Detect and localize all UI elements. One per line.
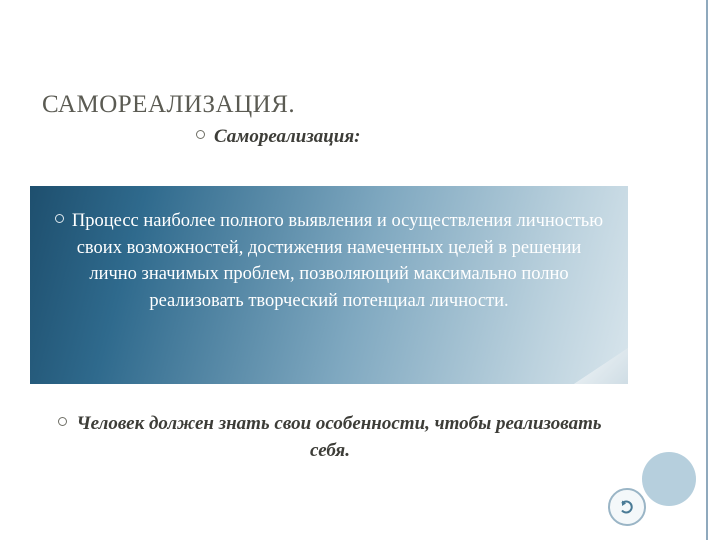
decorative-circle	[642, 452, 696, 506]
page-title: САМОРЕАЛИЗАЦИЯ.	[42, 91, 295, 119]
return-loop-icon[interactable]	[608, 488, 646, 526]
hollow-circle-bullet-icon	[55, 214, 64, 223]
hollow-circle-bullet-icon	[58, 417, 67, 426]
bullet-text-conclusion: Человек должен знать свои особенности, ч…	[76, 413, 601, 461]
bullet-text-definition-label: Самореализация:	[214, 126, 360, 148]
callout-text-wrapper: Процесс наиболее полного выявления и осу…	[30, 208, 628, 314]
slide: САМОРЕАЛИЗАЦИЯ. Самореализация: Процесс …	[0, 0, 720, 540]
callout-paragraph: Процесс наиболее полного выявления и осу…	[72, 211, 603, 311]
right-accent-rule	[706, 0, 708, 540]
definition-callout-box: Процесс наиболее полного выявления и осу…	[30, 186, 628, 384]
hollow-circle-bullet-icon	[196, 130, 205, 139]
bullet-item-conclusion: Человек должен знать свои особенности, ч…	[40, 410, 620, 464]
bullet-item-definition-label: Самореализация:	[196, 126, 360, 148]
